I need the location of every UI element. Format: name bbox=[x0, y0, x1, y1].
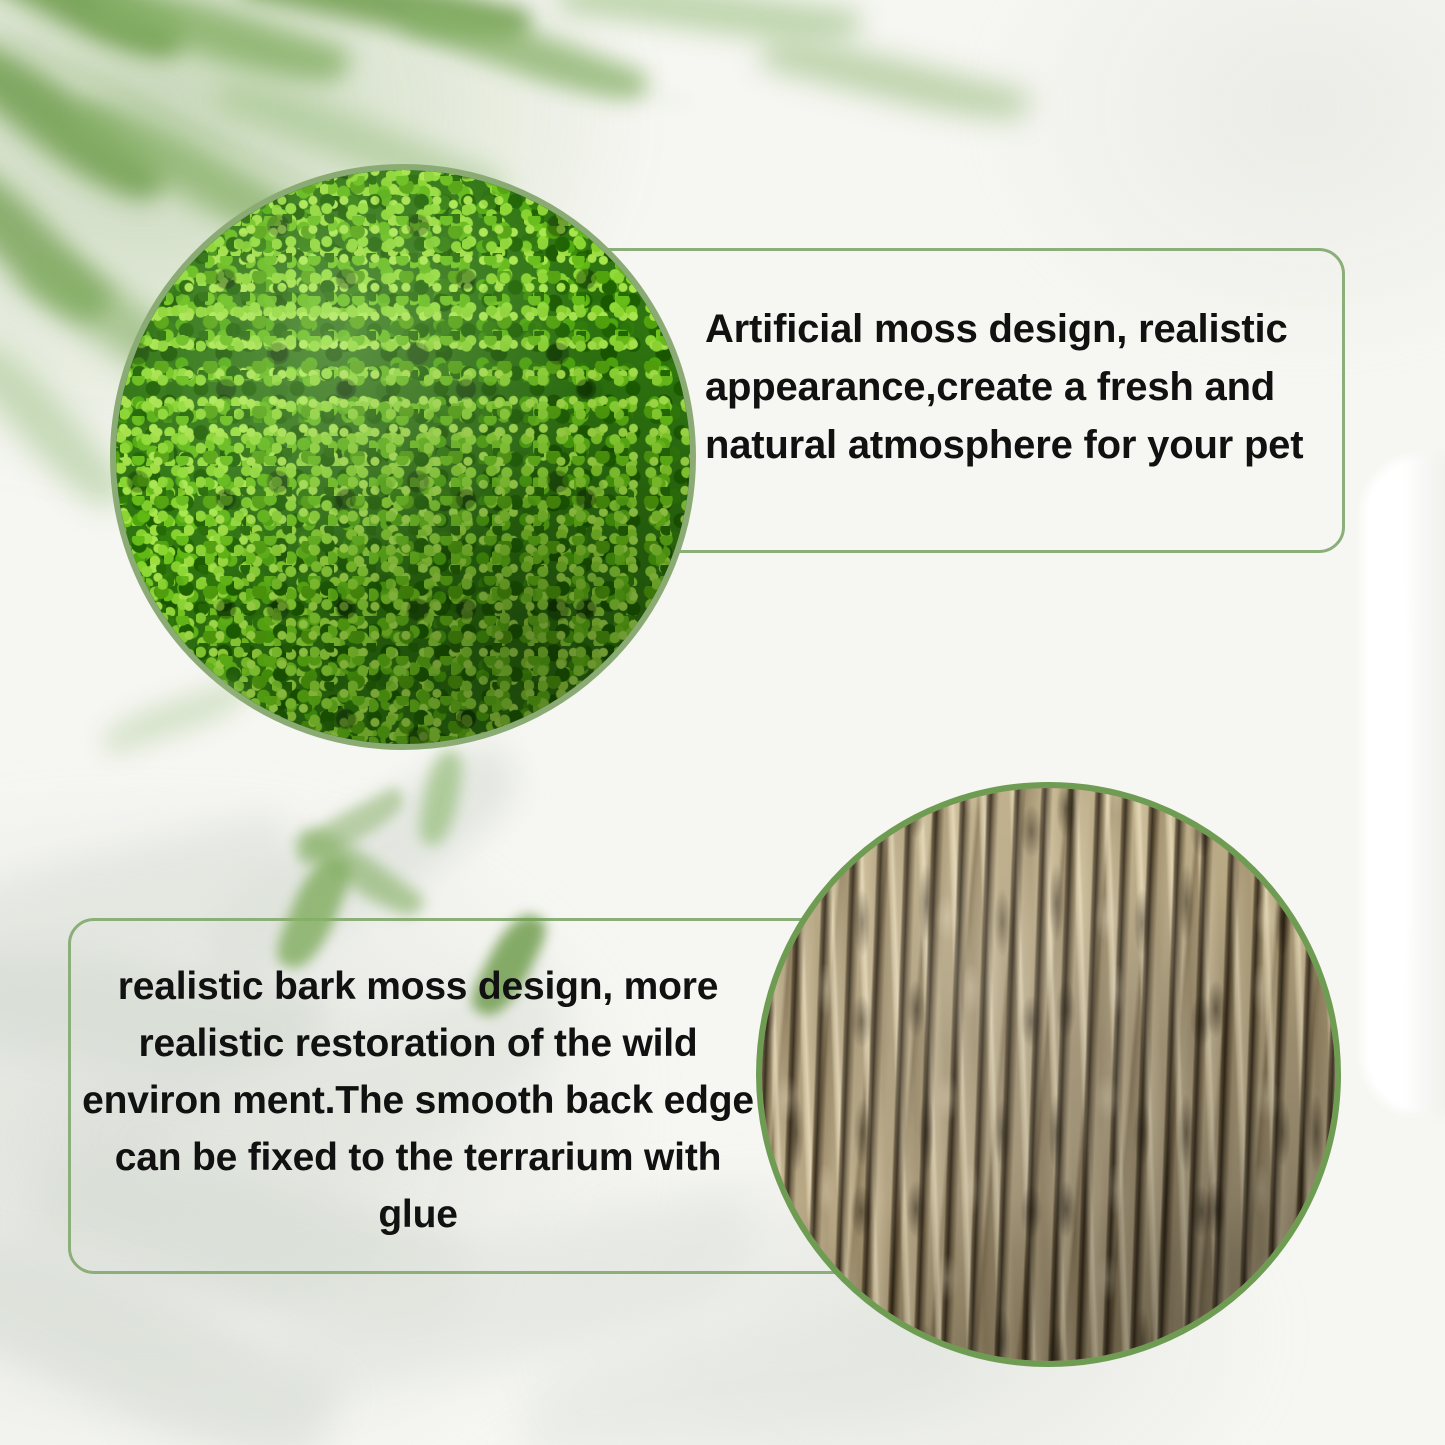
callout-text-bark: realistic bark moss design, more realist… bbox=[78, 958, 758, 1243]
bark-photo-inner bbox=[762, 788, 1335, 1361]
bamboo-leaf-icon bbox=[759, 28, 1031, 132]
bamboo-leaf-icon bbox=[400, 0, 650, 115]
callout-text-moss: Artificial moss design, realistic appear… bbox=[705, 300, 1345, 474]
bamboo-leaf-icon bbox=[0, 140, 117, 339]
bark-shading-layer bbox=[762, 788, 1335, 1361]
bamboo-leaf-icon bbox=[559, 0, 862, 53]
floating-leaf-icon bbox=[293, 817, 426, 927]
moss-photo-inner bbox=[116, 170, 690, 744]
vessel-highlight bbox=[1378, 462, 1408, 1102]
floating-leaf-icon bbox=[290, 786, 410, 869]
moss-shading-layer bbox=[116, 170, 690, 744]
bamboo-leaf-icon bbox=[0, 0, 190, 77]
bamboo-leaf-icon bbox=[238, 0, 531, 56]
floating-leaf-icon bbox=[416, 748, 466, 848]
moss-photo-circle bbox=[110, 164, 696, 750]
bamboo-stem-icon bbox=[187, 0, 693, 107]
bark-photo-circle bbox=[756, 782, 1341, 1367]
bamboo-leaf-icon bbox=[89, 0, 352, 99]
product-feature-image: Artificial moss design, realistic appear… bbox=[0, 0, 1445, 1445]
